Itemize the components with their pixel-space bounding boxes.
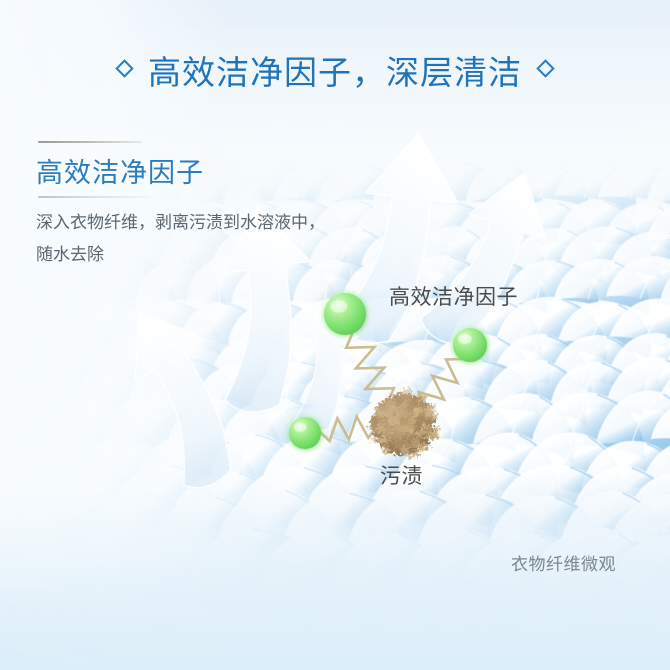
- cleaning-factor-particle-1: [324, 293, 366, 335]
- banner-title: 高效洁净因子，深层清洁: [148, 46, 522, 94]
- feature-description: 深入衣物纤维，剥离污渍到水溶液中，随水去除: [36, 207, 336, 271]
- stain-particle: [368, 388, 440, 459]
- cleaning-factor-particle-1-highlight: [330, 300, 347, 313]
- cleaning-factor-particle-2: [453, 328, 487, 362]
- subtitle-rule-bottom: [38, 196, 150, 198]
- cleaning-factor-particle-3-highlight: [294, 422, 307, 432]
- label-fiber-caption: 衣物纤维微观: [511, 550, 616, 575]
- banner-title-row: 高效洁净因子，深层清洁: [0, 46, 670, 94]
- cleaning-factor-particle-2-highlight: [458, 334, 472, 344]
- label-cleaning-factor: 高效洁净因子: [389, 281, 518, 311]
- feature-subtitle: 高效洁净因子: [36, 151, 204, 190]
- stain-blob: [368, 388, 440, 459]
- diamond-icon-right: [536, 59, 554, 77]
- subtitle-rule-top: [38, 141, 142, 143]
- promo-banner: 高效洁净因子，深层清洁 高效洁净因子 深入衣物纤维，剥离污渍到水溶液中，随水去除…: [0, 0, 670, 670]
- diamond-icon-left: [115, 59, 133, 77]
- cleaning-factor-particle-3: [289, 417, 321, 449]
- label-stain: 污渍: [380, 460, 423, 490]
